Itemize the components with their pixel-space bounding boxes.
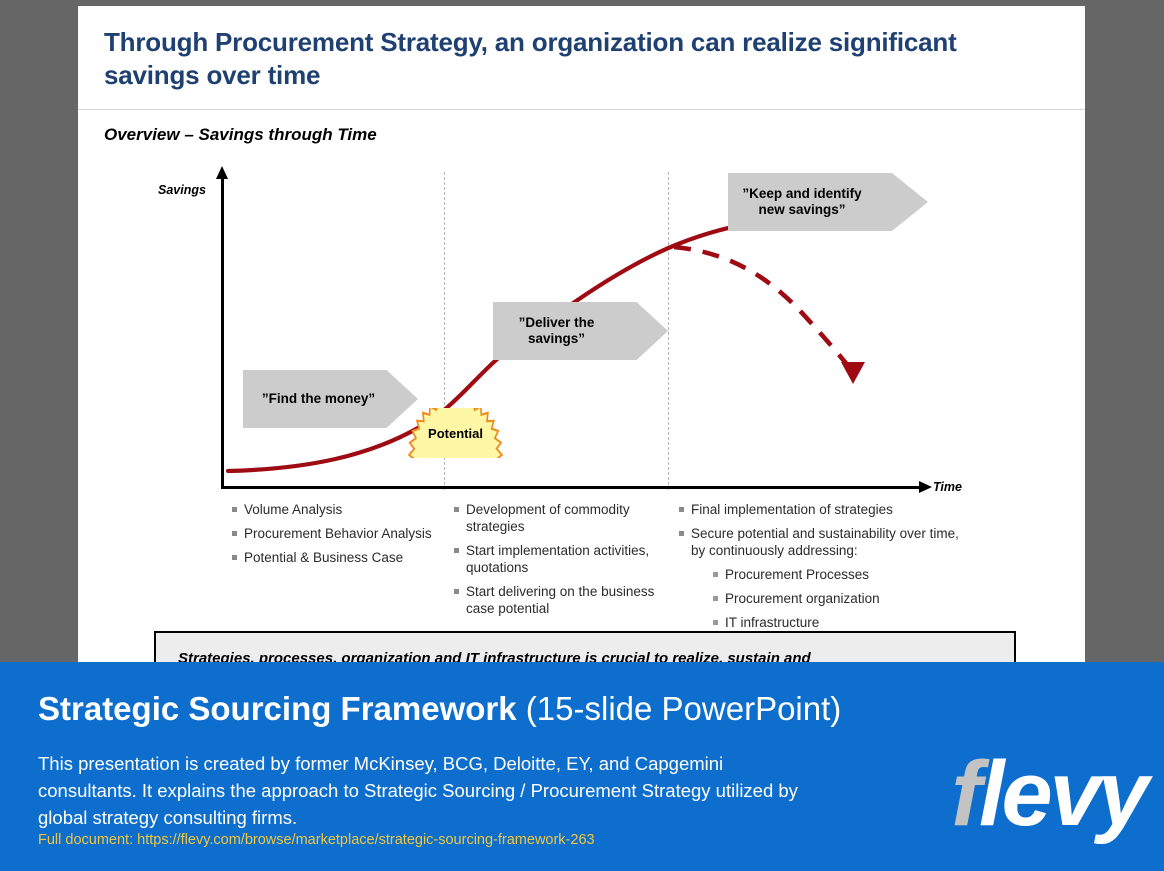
chevron-deliver-label: ”Deliver the savings” bbox=[519, 315, 643, 347]
banner-title-light: (15-slide PowerPoint) bbox=[517, 690, 842, 727]
bullet-column-phase-2: Development of commodity strategies Star… bbox=[453, 501, 683, 624]
list-item: Final implementation of strategies bbox=[678, 501, 968, 518]
bullet-sub-list: Procurement Processes Procurement organi… bbox=[678, 566, 968, 631]
chevron-deliver-line2: savings” bbox=[528, 331, 609, 346]
banner-title: Strategic Sourcing Framework (15-slide P… bbox=[38, 689, 841, 729]
banner-document-link[interactable]: Full document: https://flevy.com/browse/… bbox=[38, 832, 595, 848]
bullet-column-phase-3: Final implementation of strategies Secur… bbox=[678, 501, 968, 638]
flevy-logo-levy: levy bbox=[979, 743, 1146, 845]
chevron-find-the-money: ”Find the money” bbox=[243, 370, 418, 428]
banner-title-strong: Strategic Sourcing Framework bbox=[38, 690, 517, 727]
list-item: Procurement organization bbox=[712, 590, 968, 607]
chevron-keep-line2: new savings” bbox=[758, 202, 871, 217]
chevron-deliver-the-savings: ”Deliver the savings” bbox=[493, 302, 668, 360]
bullet-column-phase-1: Volume Analysis Procurement Behavior Ana… bbox=[231, 501, 446, 573]
slide-title-block: Through Procurement Strategy, an organiz… bbox=[78, 6, 1085, 110]
y-axis-arrow-icon bbox=[216, 166, 228, 179]
y-axis bbox=[221, 178, 224, 488]
flevy-logo-f: f bbox=[951, 743, 979, 845]
list-item: Volume Analysis bbox=[231, 501, 446, 518]
list-item: Potential & Business Case bbox=[231, 549, 446, 566]
potential-starburst: Potential bbox=[403, 408, 508, 458]
list-item: IT infrastructure bbox=[712, 614, 968, 631]
potential-label: Potential bbox=[428, 426, 483, 441]
chevron-keep-label: ”Keep and identify new savings” bbox=[742, 186, 913, 218]
slide-canvas: Through Procurement Strategy, an organiz… bbox=[78, 6, 1085, 666]
list-item: Start delivering on the business case po… bbox=[453, 583, 683, 617]
list-item: Secure potential and sustainability over… bbox=[678, 525, 968, 559]
list-item: Start implementation activities, quotati… bbox=[453, 542, 683, 576]
slide-subtitle: Overview – Savings through Time bbox=[104, 125, 377, 145]
list-item: Procurement Processes bbox=[712, 566, 968, 583]
chevron-find-label: ”Find the money” bbox=[262, 391, 399, 407]
chevron-keep-line1: ”Keep and identify bbox=[742, 186, 887, 201]
dashed-curve-arrowhead bbox=[841, 362, 865, 384]
y-axis-label: Savings bbox=[158, 183, 206, 197]
savings-over-time-chart: Savings Time ”Find the money” ”Deliver t… bbox=[78, 156, 1085, 506]
key-message-callout-box: Strategies, processes, organization and … bbox=[154, 631, 1016, 666]
banner-description: This presentation is created by former M… bbox=[38, 750, 798, 831]
x-axis-label: Time bbox=[933, 480, 962, 494]
page-title: Through Procurement Strategy, an organiz… bbox=[104, 26, 1054, 92]
list-item: Development of commodity strategies bbox=[453, 501, 683, 535]
flevy-logo[interactable]: flevy bbox=[951, 748, 1146, 840]
dashed-erosion-curve bbox=[674, 247, 850, 368]
chevron-deliver-line1: ”Deliver the bbox=[519, 315, 619, 330]
chevron-keep-and-identify: ”Keep and identify new savings” bbox=[728, 173, 928, 231]
phase-bullet-columns: Volume Analysis Procurement Behavior Ana… bbox=[78, 501, 1085, 626]
list-item: Procurement Behavior Analysis bbox=[231, 525, 446, 542]
x-axis bbox=[221, 486, 921, 489]
x-axis-arrow-icon bbox=[919, 481, 932, 493]
